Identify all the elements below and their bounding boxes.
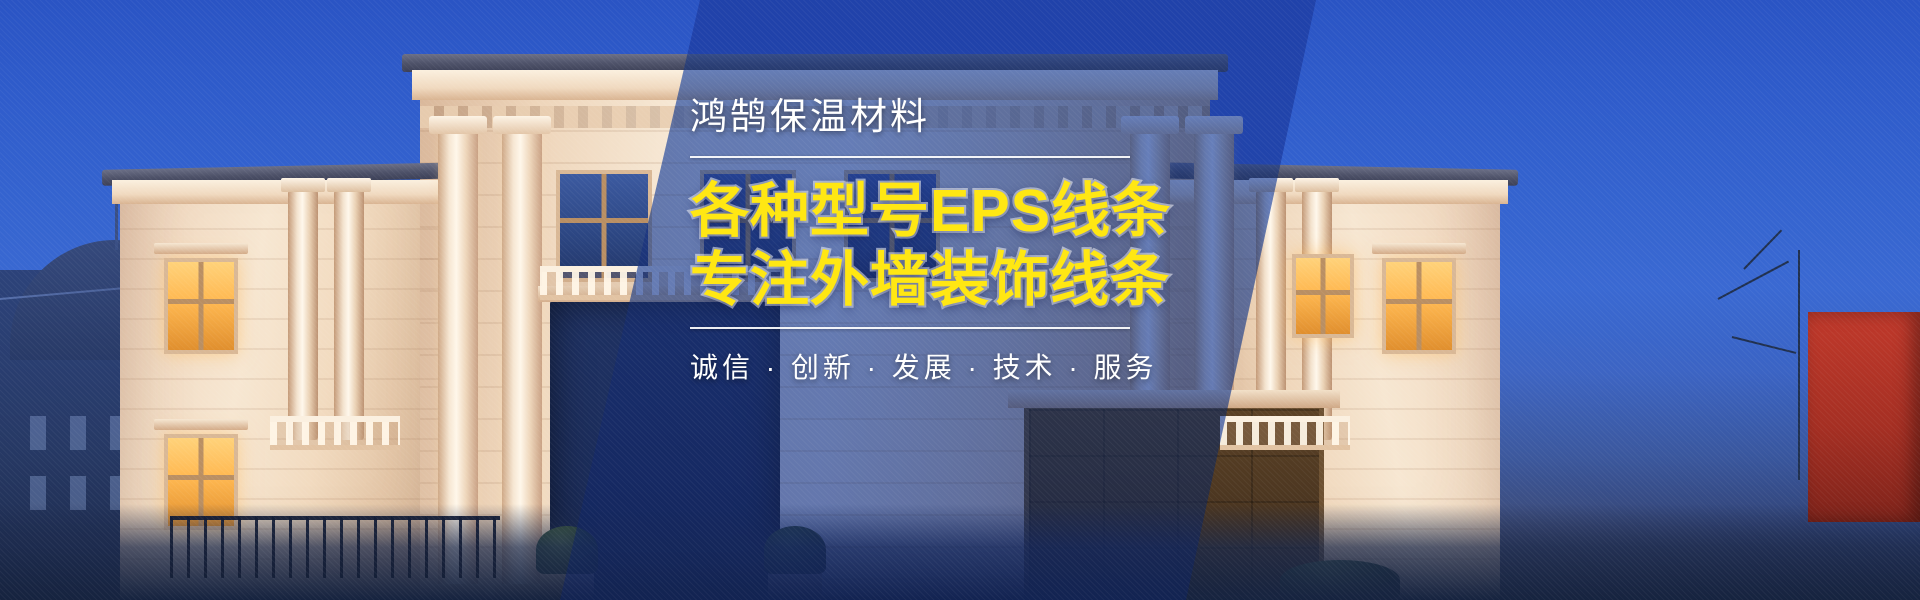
window-hood: [1372, 243, 1466, 254]
window-hood: [154, 419, 248, 430]
tagline: 诚信 · 创新 · 发展 · 技术 · 服务: [690, 346, 1310, 386]
distant-window: [30, 416, 46, 450]
headline-line-1: 各种型号EPS线条: [690, 180, 1310, 244]
round-column: [288, 190, 318, 440]
headline-block: 各种型号EPS线条 专注外墙装饰线条: [690, 180, 1310, 313]
balustrade: [270, 416, 400, 450]
banner-copy: 鸿鹄保温材料 各种型号EPS线条 专注外墙装饰线条 诚信 · 创新 · 发展 ·…: [690, 96, 1310, 386]
divider-top: [690, 156, 1130, 158]
lit-window: [164, 258, 238, 354]
brand-name: 鸿鹄保温材料: [690, 96, 1310, 139]
balustrade: [1220, 416, 1350, 450]
round-column: [334, 190, 364, 440]
bare-tree: [1798, 250, 1800, 480]
headline-line-2: 专注外墙装饰线条: [690, 249, 1310, 313]
red-container: [1808, 312, 1920, 522]
window-hood: [154, 243, 248, 254]
iron-fence: [170, 516, 500, 578]
distant-window: [70, 416, 86, 450]
hero-banner: 鸿鹄保温材料 各种型号EPS线条 专注外墙装饰线条 诚信 · 创新 · 发展 ·…: [0, 0, 1920, 600]
lit-window: [1382, 258, 1456, 354]
divider-bottom: [690, 327, 1130, 329]
